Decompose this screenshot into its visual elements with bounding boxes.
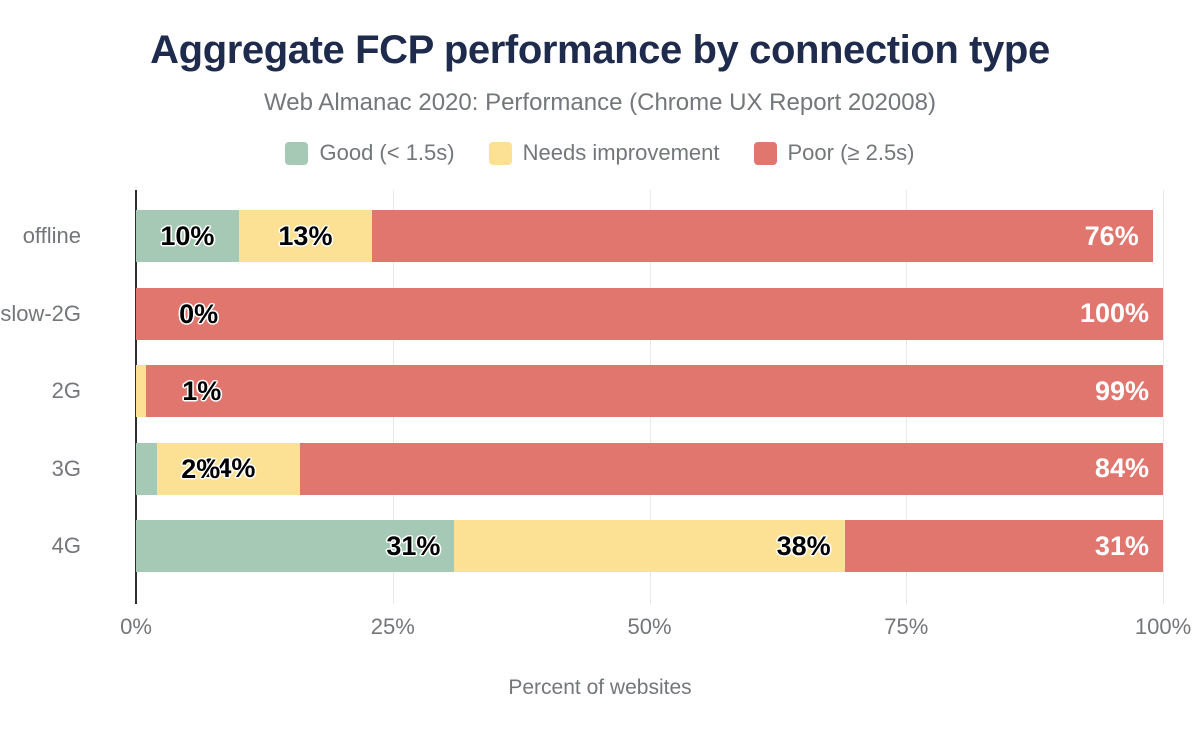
legend-item[interactable]: Poor (≥ 2.5s) xyxy=(754,140,915,166)
bar-segment-label: 2% xyxy=(181,456,220,483)
bar-segment[interactable]: 100% xyxy=(136,288,1163,340)
bar-row[interactable]: 100%0% xyxy=(136,288,1163,340)
bar-segment-label: 100% xyxy=(1080,300,1149,327)
bar-segment[interactable]: 84% xyxy=(300,443,1163,495)
legend-item-label: Good (< 1.5s) xyxy=(319,140,454,166)
bar-segment[interactable]: 76% xyxy=(372,210,1153,262)
y-axis-tick-label: 2G xyxy=(52,365,81,417)
gridline xyxy=(1163,190,1164,604)
legend-swatch-icon xyxy=(489,142,512,165)
bar-segment-label: 38% xyxy=(777,533,831,560)
legend-item[interactable]: Needs improvement xyxy=(489,140,720,166)
legend-item-label: Poor (≥ 2.5s) xyxy=(788,140,915,166)
bar-segment[interactable]: 99% xyxy=(146,365,1163,417)
bar-segment-label: 99% xyxy=(1095,378,1149,405)
chart-subtitle: Web Almanac 2020: Performance (Chrome UX… xyxy=(0,89,1200,117)
chart-legend: Good (< 1.5s)Needs improvementPoor (≥ 2.… xyxy=(0,140,1200,166)
x-axis-title: Percent of websites xyxy=(0,676,1200,700)
x-axis-tick-label: 75% xyxy=(884,614,928,640)
bar-segment-label: 1% xyxy=(182,378,221,405)
x-axis-tick-label: 0% xyxy=(120,614,152,640)
bar-segment-label: 13% xyxy=(278,223,332,250)
y-axis-tick-label: slow-2G xyxy=(0,288,81,340)
legend-item-label: Needs improvement xyxy=(523,140,720,166)
bar-segment-label: 10% xyxy=(160,223,214,250)
x-axis-tick-label: 100% xyxy=(1135,614,1191,640)
legend-swatch-icon xyxy=(754,142,777,165)
bar-row[interactable]: 14%84%2% xyxy=(136,443,1163,495)
bar-row[interactable]: 31%38%31% xyxy=(136,520,1163,572)
bar-segment[interactable]: 13% xyxy=(239,210,373,262)
bar-segment-label: 76% xyxy=(1085,223,1139,250)
bar-row[interactable]: 10%13%76% xyxy=(136,210,1163,262)
bar-segment[interactable] xyxy=(136,365,146,417)
bar-segment[interactable] xyxy=(136,443,157,495)
legend-swatch-icon xyxy=(285,142,308,165)
bar-segment[interactable]: 31% xyxy=(845,520,1163,572)
bar-segment[interactable]: 31% xyxy=(136,520,454,572)
bar-segment[interactable]: 14% xyxy=(157,443,301,495)
y-axis-tick-label: 3G xyxy=(52,443,81,495)
y-axis-tick-label: 4G xyxy=(52,520,81,572)
plot-area: offline10%13%76%slow-2G100%0%2G99%1%3G14… xyxy=(136,190,1163,604)
bar-row[interactable]: 99%1% xyxy=(136,365,1163,417)
bar-segment-label: 84% xyxy=(1095,455,1149,482)
bar-segment[interactable]: 38% xyxy=(454,520,844,572)
bar-segment-label: 0% xyxy=(179,301,218,328)
x-axis-tick-label: 25% xyxy=(371,614,415,640)
y-axis-tick-label: offline xyxy=(23,210,81,262)
legend-item[interactable]: Good (< 1.5s) xyxy=(285,140,454,166)
chart-title: Aggregate FCP performance by connection … xyxy=(0,28,1200,73)
chart-container: Aggregate FCP performance by connection … xyxy=(0,0,1200,742)
bar-segment-label: 31% xyxy=(386,533,440,560)
x-axis-tick-label: 50% xyxy=(627,614,671,640)
bar-segment[interactable]: 10% xyxy=(136,210,239,262)
bar-segment-label: 31% xyxy=(1095,533,1149,560)
